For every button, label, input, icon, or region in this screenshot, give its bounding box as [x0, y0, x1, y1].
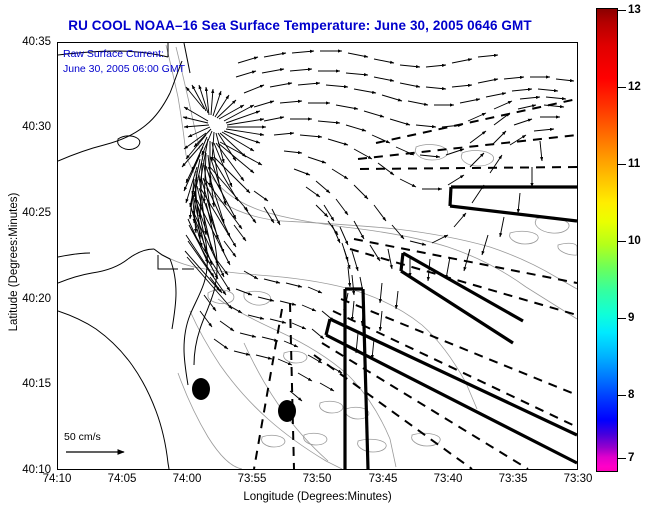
- colorbar-tick-mark-12: [618, 87, 626, 88]
- coastline: [58, 43, 217, 469]
- x-axis-label: Longitude (Degrees:Minutes): [57, 491, 578, 503]
- colorbar-tick-9: 9: [628, 312, 634, 324]
- station-markers: [192, 378, 296, 422]
- velocity-scale-arrow-icon: [64, 443, 140, 459]
- y-tick-0: 40:35: [3, 36, 51, 48]
- map-graphics: [58, 43, 577, 469]
- x-tick-6: 73:40: [434, 473, 463, 485]
- colorbar-tick-8: 8: [628, 389, 634, 401]
- colorbar-tick-mark-11: [618, 164, 626, 165]
- colorbar-tick-mark-10: [618, 241, 626, 242]
- y-tick-5: 40:10: [3, 464, 51, 476]
- colorbar-tick-mark-13: [618, 10, 626, 11]
- page-title: RU COOL NOAA–16 Sea Surface Temperature:…: [0, 18, 600, 33]
- y-axis-label: Latitude (Degrees:Minutes): [8, 162, 20, 362]
- map-plot-area[interactable]: Raw Surface Current: June 30, 2005 06:00…: [57, 42, 578, 470]
- x-tick-7: 73:35: [499, 473, 528, 485]
- colorbar-tick-7: 7: [628, 452, 634, 464]
- y-tick-4: 40:15: [3, 378, 51, 390]
- colorbar-tick-mark-7: [618, 458, 626, 459]
- x-tick-3: 73:55: [238, 473, 267, 485]
- x-tick-1: 74:05: [108, 473, 137, 485]
- velocity-scale-legend: 50 cm/s: [64, 431, 174, 464]
- x-tick-2: 74:00: [173, 473, 202, 485]
- velocity-scale-label: 50 cm/s: [64, 431, 174, 443]
- colorbar-tick-mark-8: [618, 395, 626, 396]
- colorbar-tick-12: 12: [628, 81, 641, 93]
- current-vector-field: [182, 51, 574, 401]
- x-tick-4: 73:50: [303, 473, 332, 485]
- colorbar-tick-10: 10: [628, 235, 641, 247]
- colorbar-tick-13: 13: [628, 4, 641, 16]
- figure-canvas: RU COOL NOAA–16 Sea Surface Temperature:…: [0, 0, 651, 515]
- x-tick-5: 73:45: [369, 473, 398, 485]
- y-tick-1: 40:30: [3, 121, 51, 133]
- colorbar-tick-11: 11: [628, 158, 640, 170]
- colorbar-tick-mark-9: [618, 318, 626, 319]
- x-tick-8: 73:30: [564, 473, 593, 485]
- colorbar[interactable]: [596, 8, 618, 472]
